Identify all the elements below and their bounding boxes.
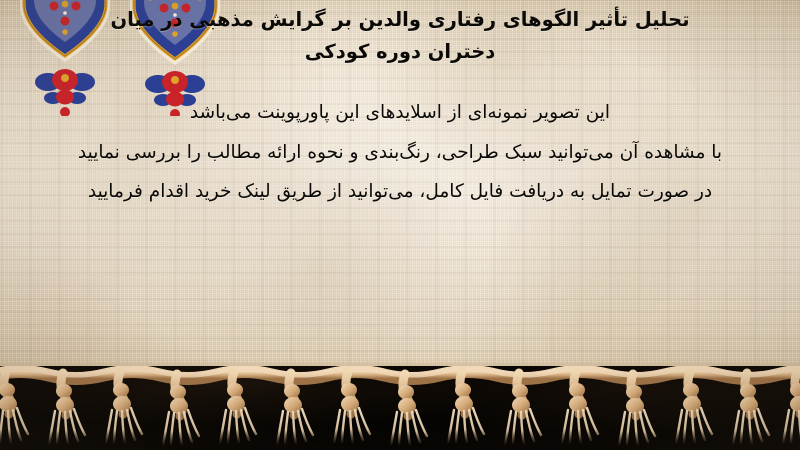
tassel [448,372,484,444]
rug-fringe-border [0,366,800,450]
slide-title-line-2: دختران دوره کودکی [305,40,496,63]
knotted-tassel-fringe-icon [0,366,800,450]
tassel [106,372,142,444]
presentation-slide: تحلیل تأثیر الگوهای رفتاری والدین بر گرا… [0,0,800,450]
tassel-group [0,372,800,446]
body-line-design-review: با مشاهده آن می‌توانید سبک طراحی، رنگ‌بن… [0,144,800,163]
body-line-sample-notice: این تصویر نمونه‌ای از اسلایدهای این پاور… [0,104,800,123]
slide-title: تحلیل تأثیر الگوهای رفتاری والدین بر گرا… [10,4,790,67]
body-line-purchase-link: در صورت تمایل به دریافت فایل کامل، می‌تو… [0,183,800,202]
tassel [562,372,598,444]
slide-body: این تصویر نمونه‌ای از اسلایدهای این پاور… [0,104,800,223]
tassel [220,372,256,444]
tassel [676,372,712,444]
tassel [783,372,800,444]
tassel [334,372,370,444]
slide-title-line-1: تحلیل تأثیر الگوهای رفتاری والدین بر گرا… [110,8,689,31]
tassel [0,372,28,444]
